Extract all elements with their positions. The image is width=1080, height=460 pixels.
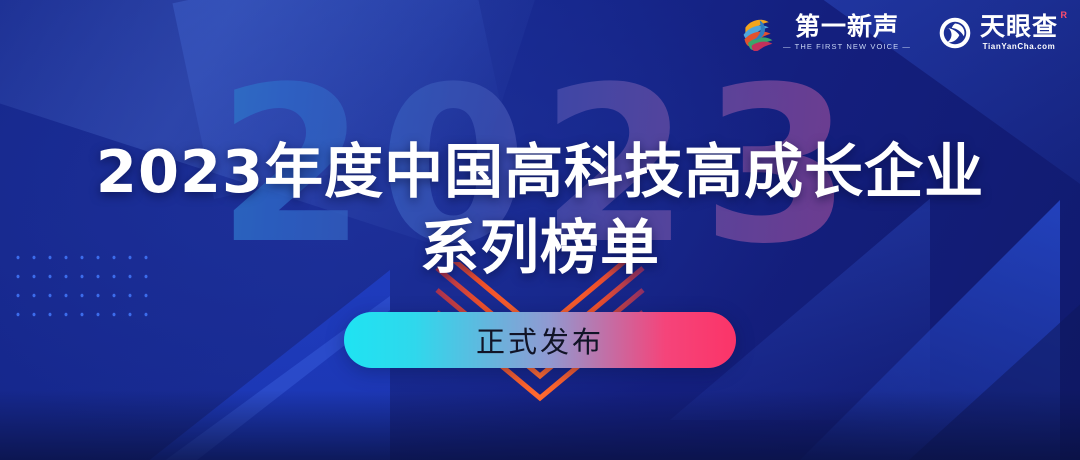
logo-tianyancha[interactable]: 天眼查 R TianYanCha.com	[937, 14, 1058, 51]
headline-line-2: 系列榜单	[0, 210, 1080, 286]
logo-diyixinsheng-name: 第一新声	[795, 14, 899, 39]
release-status-pill[interactable]: 正式发布	[344, 312, 736, 368]
release-status-label: 正式发布	[476, 319, 604, 361]
swirl-ribbon-logo-icon	[740, 15, 776, 51]
camera-shutter-eye-logo-icon	[937, 15, 973, 51]
logo-tianyancha-name: 天眼查	[980, 14, 1058, 39]
logo-bar: 第一新声 — THE FIRST NEW VOICE — 天眼查 R TianY…	[740, 14, 1058, 51]
logo-diyixinsheng[interactable]: 第一新声 — THE FIRST NEW VOICE —	[740, 14, 911, 51]
registered-trademark-icon: R	[1061, 11, 1068, 20]
headline-line-1: 2023年度中国高科技高成长企业	[0, 134, 1080, 210]
logo-diyixinsheng-tagline: — THE FIRST NEW VOICE —	[783, 43, 911, 51]
logo-diyixinsheng-text: 第一新声 — THE FIRST NEW VOICE —	[783, 14, 911, 51]
promo-banner: 2023 2023年度中国高科技高成长企业 系列榜单	[0, 0, 1080, 460]
logo-tianyancha-text: 天眼查 R TianYanCha.com	[980, 14, 1058, 51]
logo-tianyancha-tagline: TianYanCha.com	[983, 43, 1056, 51]
headline-block: 2023年度中国高科技高成长企业 系列榜单	[0, 134, 1080, 286]
